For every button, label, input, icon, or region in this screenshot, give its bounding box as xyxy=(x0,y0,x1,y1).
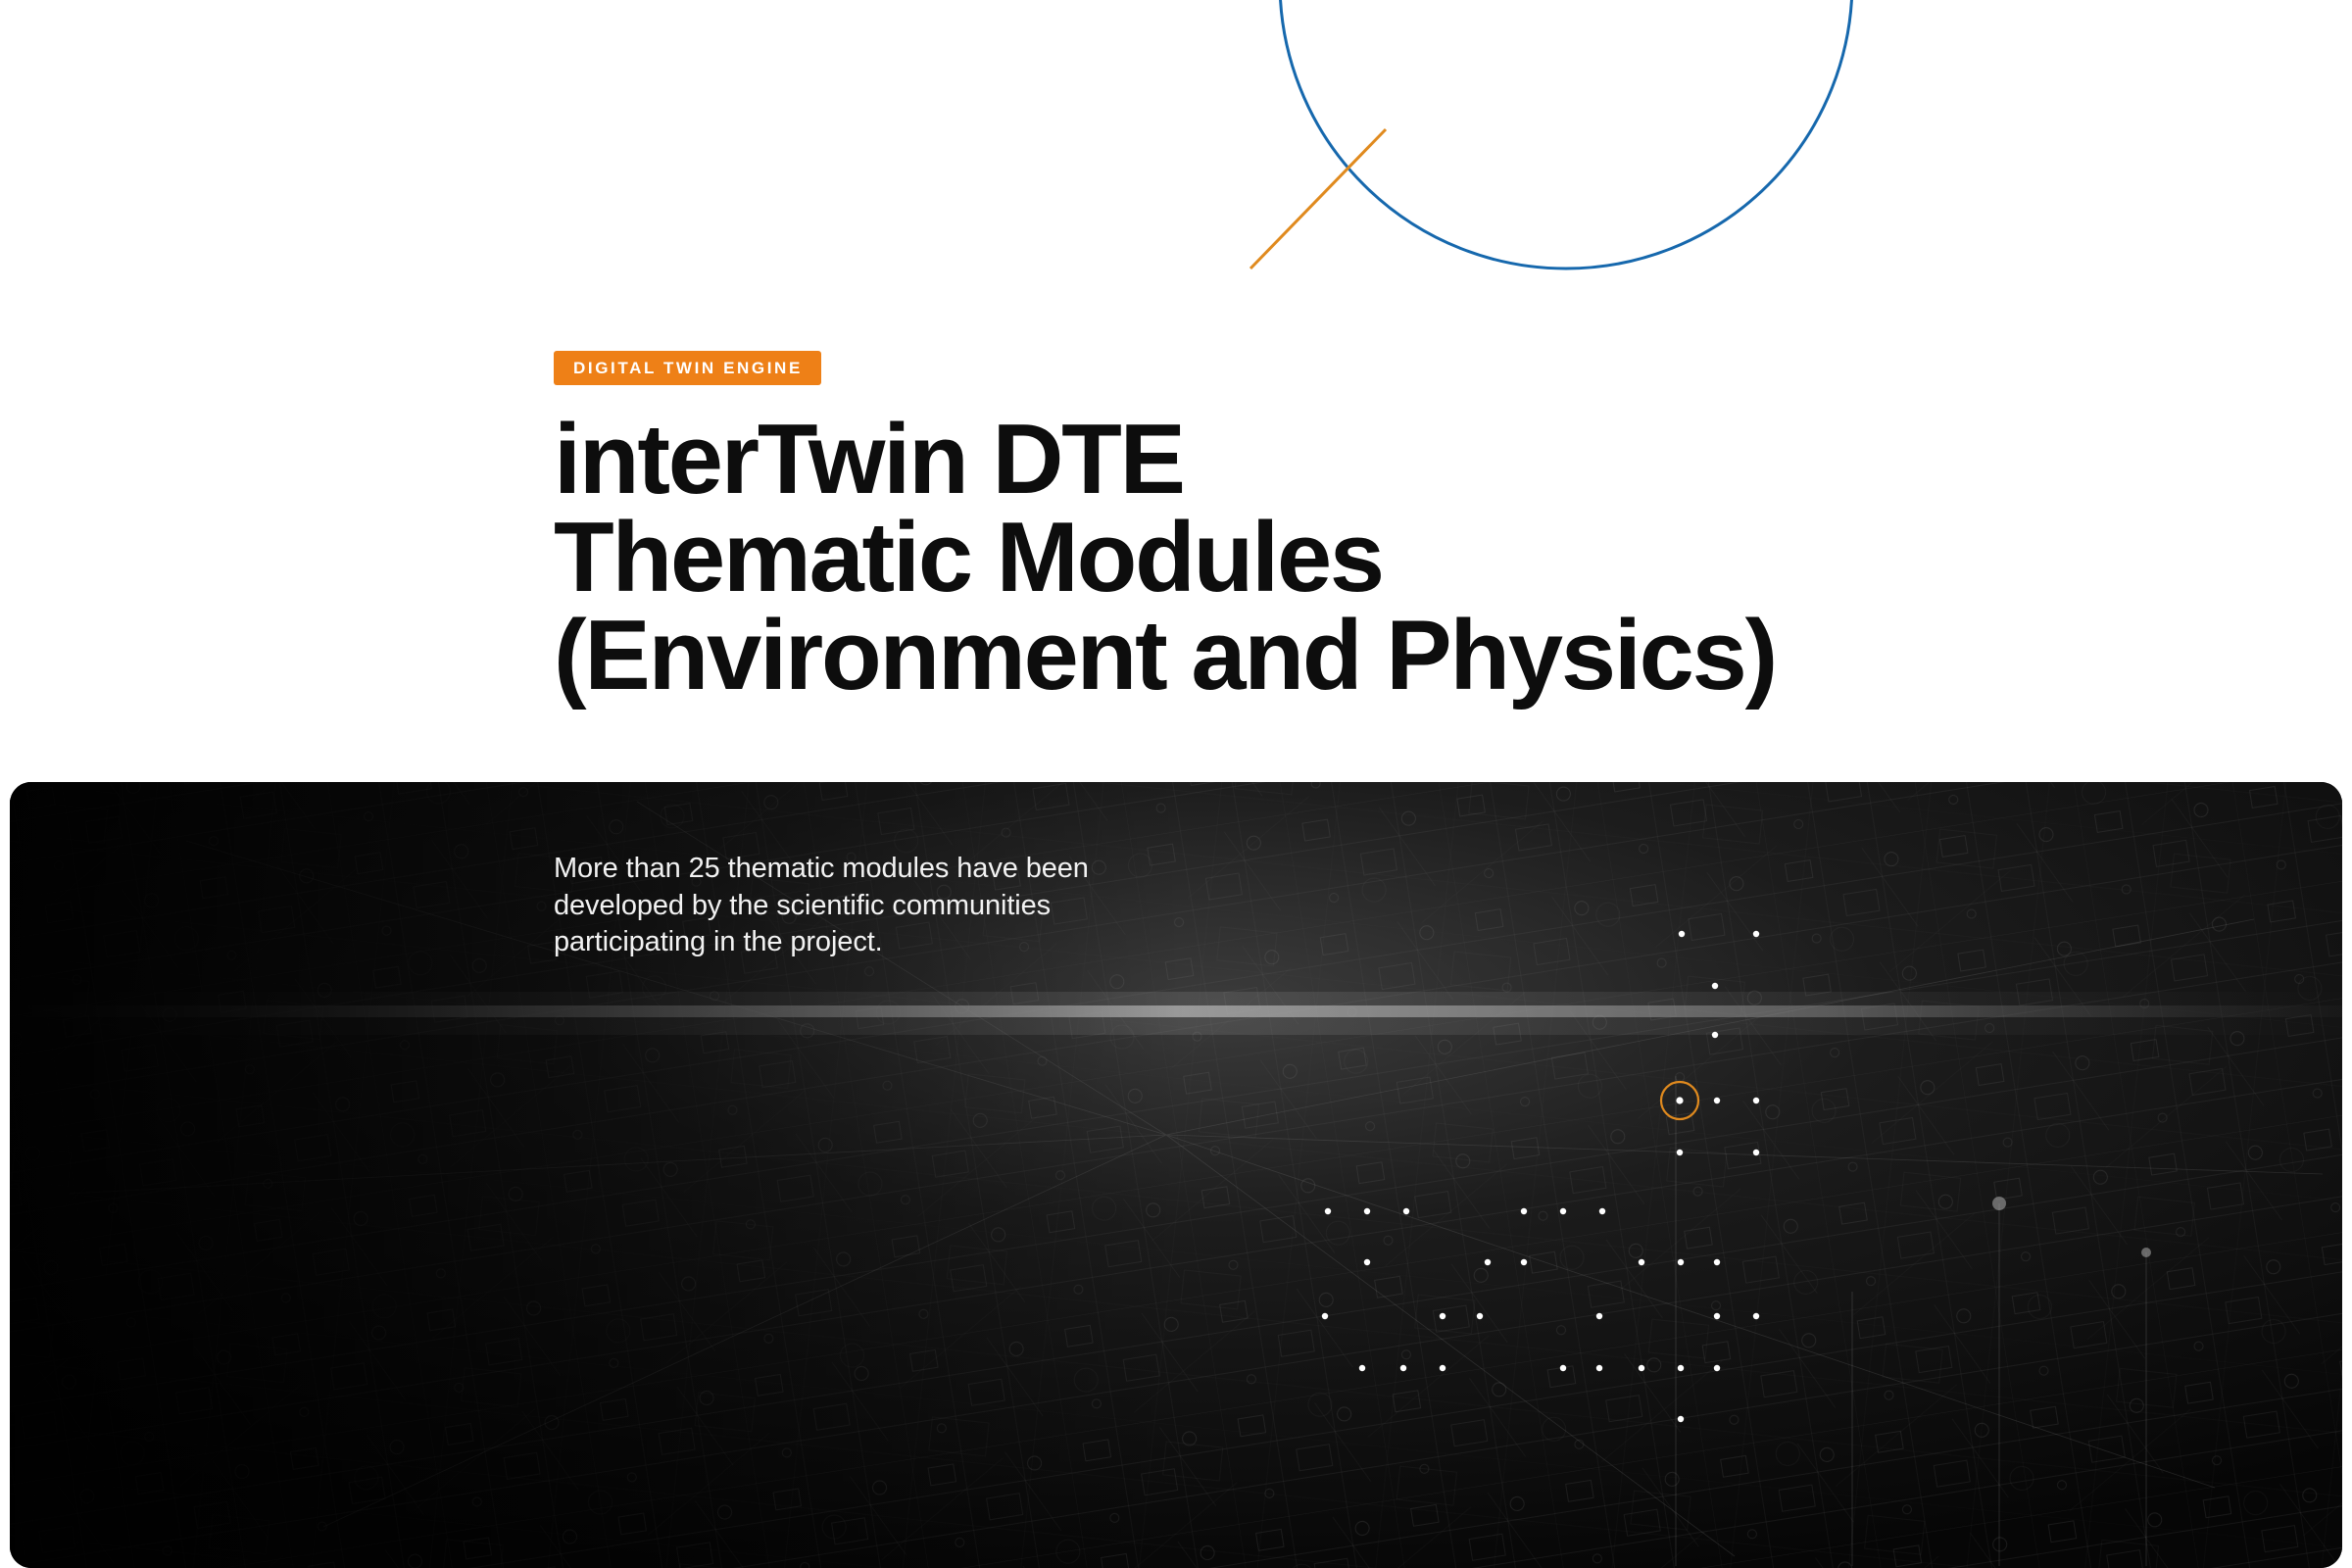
orange-diagonal-line xyxy=(1250,129,1386,269)
badge-digital-twin-engine: DIGITAL TWIN ENGINE xyxy=(554,351,821,385)
hero-image-panel: More than 25 thematic modules have been … xyxy=(10,782,2342,1568)
panel-background-artwork xyxy=(10,782,2342,1568)
title-line-3: (Environment and Physics) xyxy=(554,607,2318,705)
title-line-1: interTwin DTE xyxy=(554,411,2318,509)
lede-paragraph: More than 25 thematic modules have been … xyxy=(554,851,1102,961)
hero-section: DIGITAL TWIN ENGINE interTwin DTE Themat… xyxy=(554,351,2318,705)
title-line-2: Thematic Modules xyxy=(554,509,2318,607)
blue-circle-outline xyxy=(1280,0,1852,269)
page-title: interTwin DTE Thematic Modules (Environm… xyxy=(554,411,2318,705)
panel-text-block: More than 25 thematic modules have been … xyxy=(554,851,1102,961)
page-root: DIGITAL TWIN ENGINE interTwin DTE Themat… xyxy=(0,0,2352,1568)
